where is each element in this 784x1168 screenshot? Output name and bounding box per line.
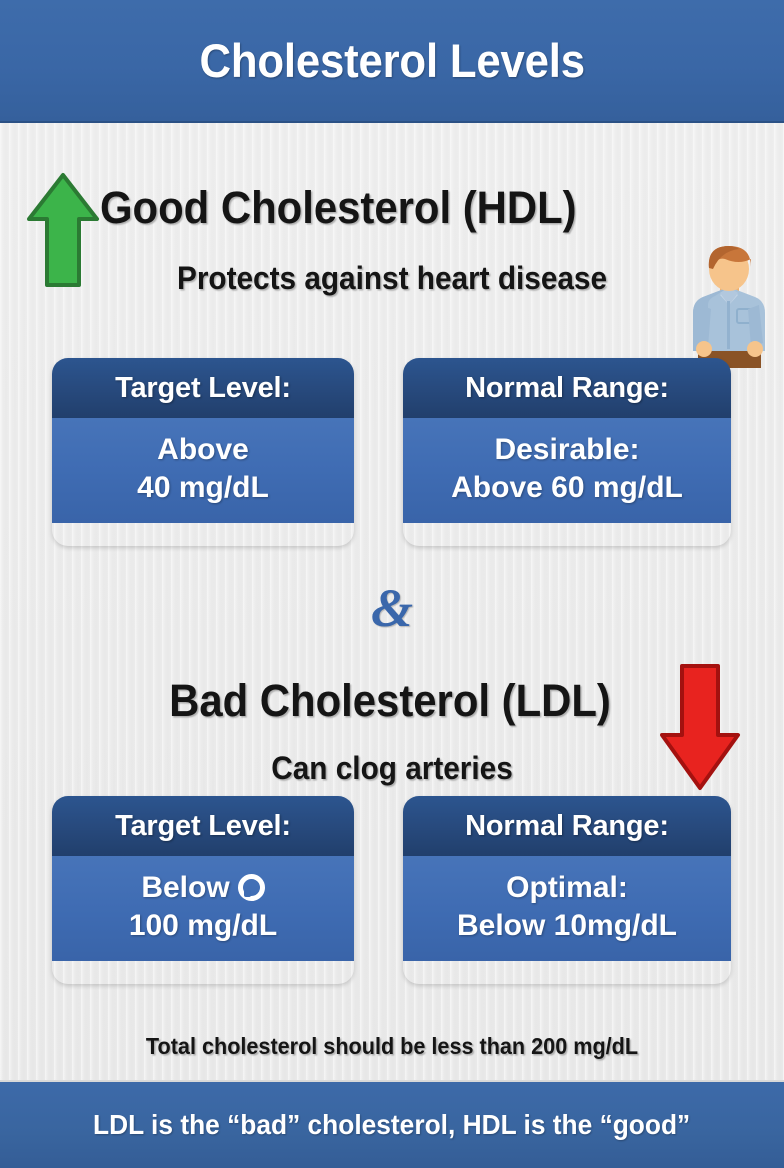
card-body: Optimal: Below 10mg/dL [403, 856, 731, 961]
card-heading: Target Level: [52, 358, 354, 418]
card-line: Above [58, 431, 348, 469]
good-cholesterol-subtitle: Protects against heart disease [177, 260, 607, 297]
arrow-down-icon [658, 663, 742, 791]
ampersand-icon: & [371, 581, 413, 635]
ring-glyph-icon [238, 874, 265, 901]
card-body: Below 100 mg/dL [52, 856, 354, 961]
footer-text: LDL is the “bad” cholesterol, HDL is the… [93, 1109, 690, 1141]
footer-bar: LDL is the “bad” cholesterol, HDL is the… [0, 1080, 784, 1168]
card-hdl-target: Target Level: Above 40 mg/dL [52, 358, 354, 546]
total-cholesterol-note: Total cholesterol should be less than 20… [146, 1033, 638, 1060]
card-line: Desirable: [409, 431, 725, 469]
card-ldl-normal: Normal Range: Optimal: Below 10mg/dL [403, 796, 731, 984]
card-heading: Normal Range: [403, 358, 731, 418]
infographic-poster: Cholesterol Levels Good Cholesterol (HDL… [0, 0, 784, 1168]
good-cholesterol-title: Good Cholesterol (HDL) [100, 182, 577, 234]
card-heading: Target Level: [52, 796, 354, 856]
card-line: 40 mg/dL [58, 469, 348, 507]
person-illustration [675, 243, 784, 368]
card-line: 100 mg/dL [58, 907, 348, 945]
card-hdl-normal: Normal Range: Desirable: Above 60 mg/dL [403, 358, 731, 546]
card-heading: Normal Range: [403, 796, 731, 856]
bad-cholesterol-title: Bad Cholesterol (LDL) [169, 675, 611, 727]
card-body: Desirable: Above 60 mg/dL [403, 418, 731, 523]
card-body: Above 40 mg/dL [52, 418, 354, 523]
arrow-up-icon [26, 172, 100, 288]
header-bar: Cholesterol Levels [0, 0, 784, 123]
card-line-text: Below [141, 871, 229, 904]
page-title: Cholesterol Levels [199, 33, 584, 88]
bad-cholesterol-subtitle: Can clog arteries [271, 750, 512, 787]
card-ldl-target: Target Level: Below 100 mg/dL [52, 796, 354, 984]
card-line: Below 10mg/dL [409, 907, 725, 945]
card-line: Above 60 mg/dL [409, 469, 725, 507]
card-line: Optimal: [409, 869, 725, 907]
card-line-with-glyph: Below [58, 869, 348, 907]
